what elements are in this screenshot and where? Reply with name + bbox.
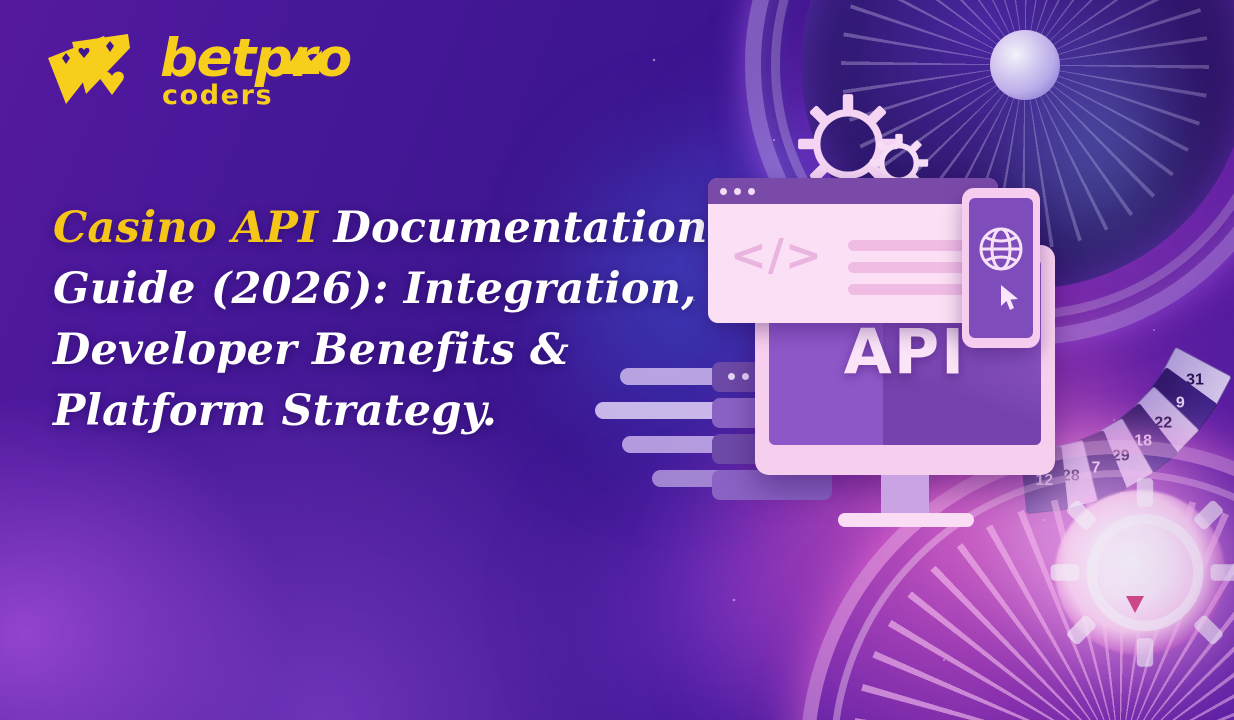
code-line — [848, 284, 978, 295]
api-illustration: API </> — [600, 180, 1120, 600]
brand-tagline: coders — [162, 80, 273, 111]
casino-api-banner: 31 9 22 18 29 7 28 12 — [0, 0, 1234, 720]
headline-highlight: Casino API — [53, 203, 318, 253]
code-line — [848, 240, 978, 251]
code-line — [848, 262, 978, 273]
code-window-icon: </> — [708, 178, 998, 323]
code-glyph: </> — [730, 230, 823, 281]
window-dot — [748, 188, 755, 195]
phone-screen — [969, 198, 1033, 338]
crown-icon — [280, 46, 322, 76]
globe-network-icon — [976, 224, 1026, 274]
window-dot — [720, 188, 727, 195]
mobile-phone-icon — [962, 188, 1040, 348]
playing-cards-icon — [44, 22, 156, 114]
monitor-neck — [881, 475, 929, 517]
brand-logo[interactable]: betpro coders — [44, 22, 314, 122]
code-window-titlebar — [708, 178, 998, 204]
monitor-base — [838, 513, 974, 527]
window-dot — [734, 188, 741, 195]
code-window-body: </> — [708, 204, 998, 323]
mouse-pointer-icon — [999, 284, 1023, 312]
